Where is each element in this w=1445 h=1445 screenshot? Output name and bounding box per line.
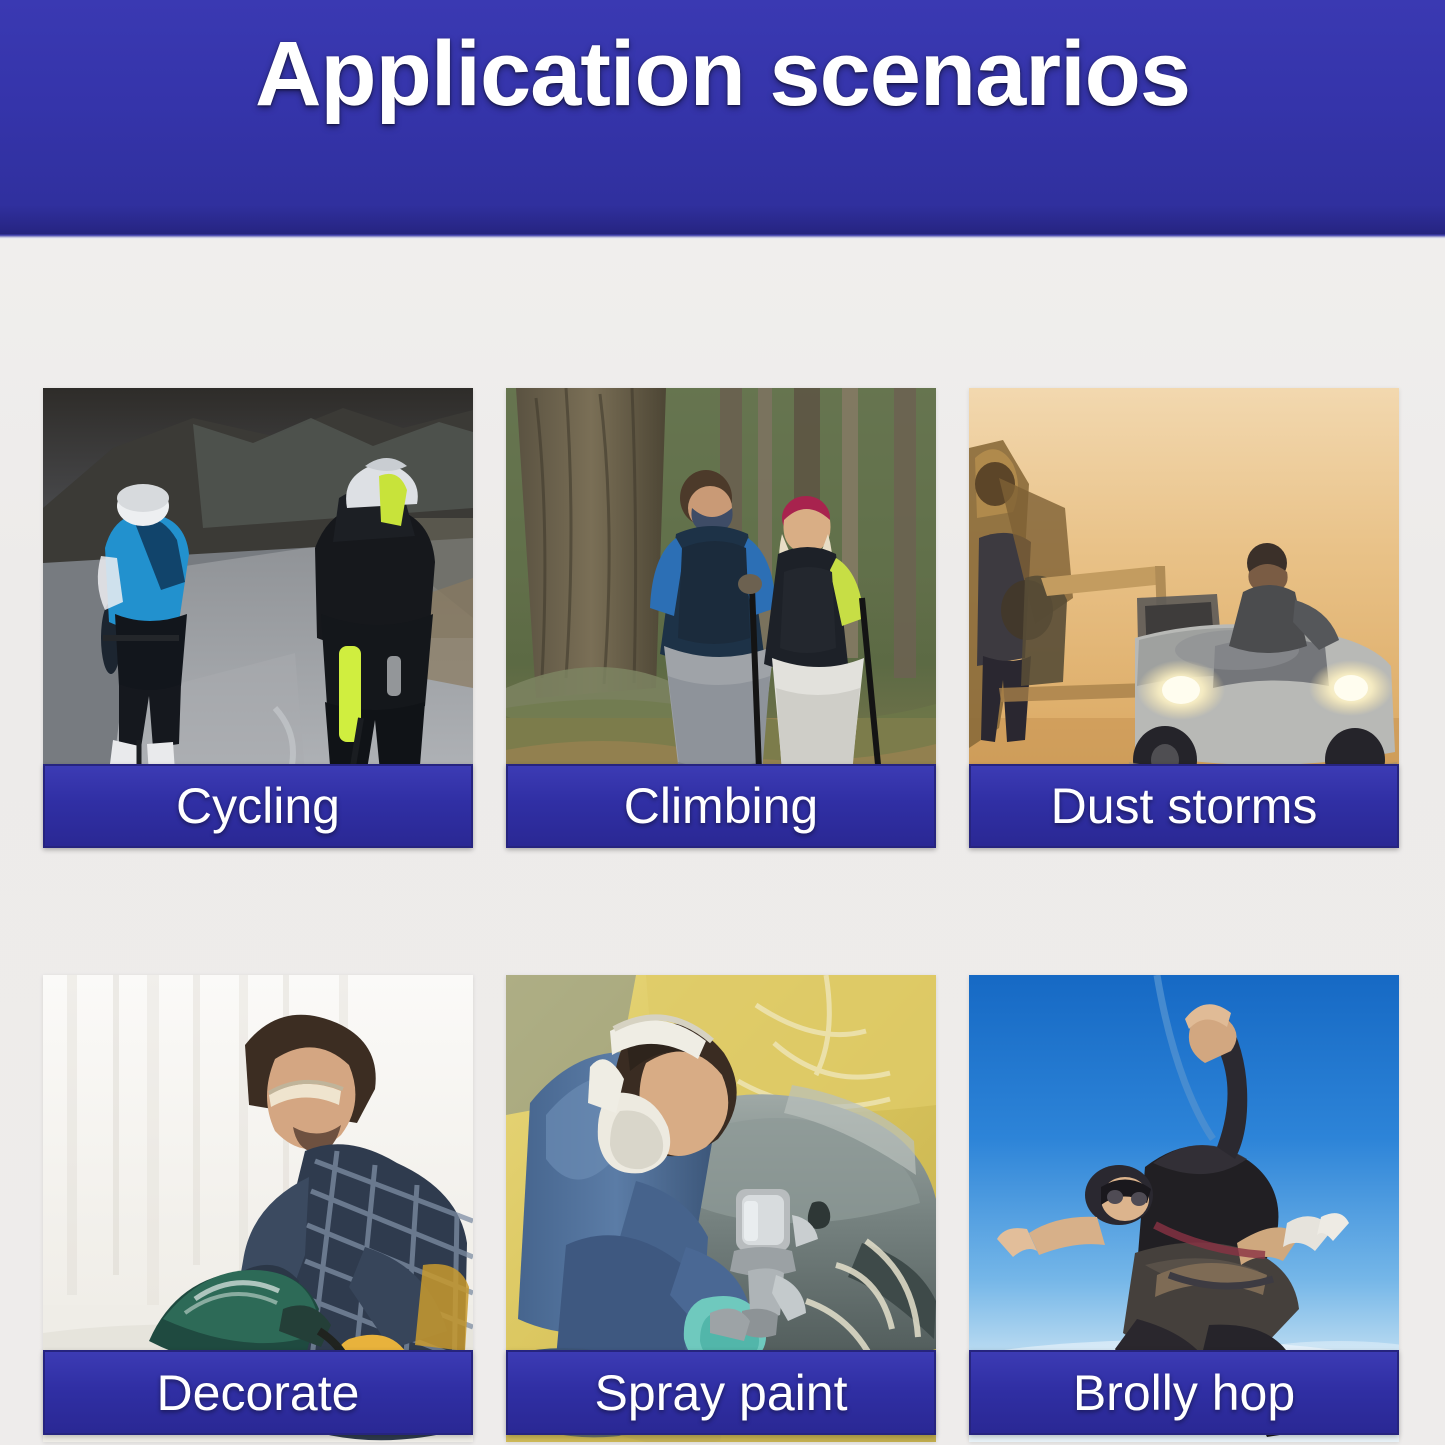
scenario-label-climbing: Climbing [624, 781, 819, 831]
scenario-card-spray-paint[interactable]: Spray paint [506, 975, 936, 1435]
scenario-card-brolly-hop[interactable]: Brolly hop [969, 975, 1399, 1435]
card-label-bar: Decorate [43, 1350, 473, 1435]
card-label-bar: Cycling [43, 764, 473, 848]
card-label-bar: Spray paint [506, 1350, 936, 1435]
scenario-card-decorate[interactable]: Decorate [43, 975, 473, 1435]
card-label-bar: Climbing [506, 764, 936, 848]
scenario-card-grid: Cycling [43, 388, 1407, 1435]
card-label-bar: Brolly hop [969, 1350, 1399, 1435]
application-scenarios-page: Application scenarios [0, 0, 1445, 1445]
scenario-card-cycling[interactable]: Cycling [43, 388, 473, 848]
page-title: Application scenarios [255, 26, 1190, 123]
card-label-bar: Dust storms [969, 764, 1399, 848]
scenario-label-dust-storms: Dust storms [1051, 781, 1318, 831]
page-header-banner: Application scenarios [0, 0, 1445, 233]
header-divider [0, 233, 1445, 239]
scenario-card-dust-storms[interactable]: Dust storms [969, 388, 1399, 848]
scenario-label-brolly-hop: Brolly hop [1073, 1368, 1295, 1418]
scenario-card-climbing[interactable]: Climbing [506, 388, 936, 848]
scenario-label-spray-paint: Spray paint [595, 1368, 848, 1418]
scenario-label-decorate: Decorate [157, 1368, 360, 1418]
scenario-label-cycling: Cycling [176, 781, 340, 831]
